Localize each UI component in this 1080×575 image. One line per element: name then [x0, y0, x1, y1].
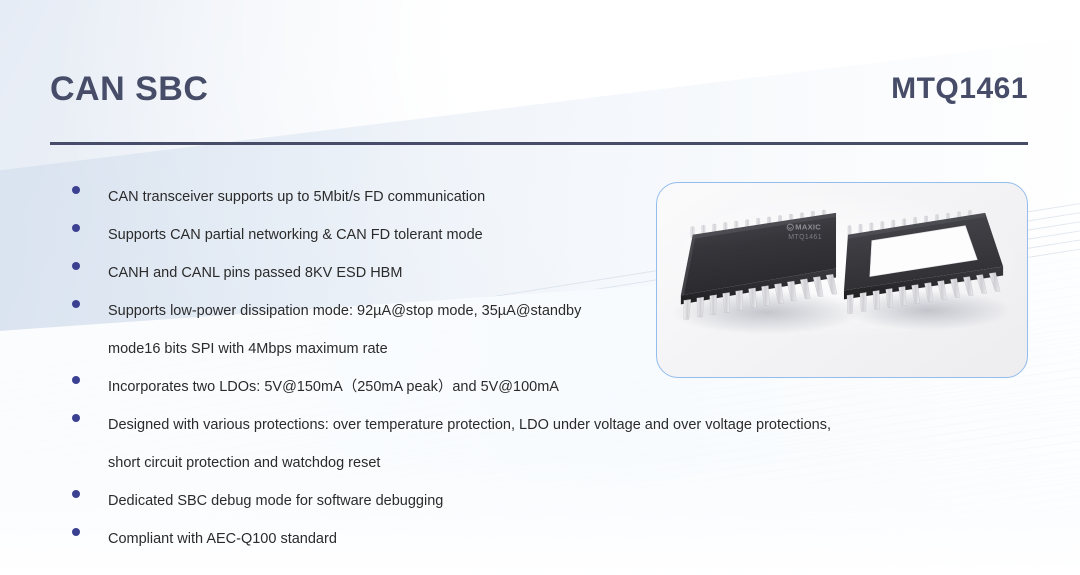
part-number-label: MTQ1461: [891, 74, 1028, 106]
bullet-point-icon: [72, 262, 80, 270]
feature-continuation-line: short circuit protection and watchdog re…: [50, 444, 950, 482]
feature-list-item: Designed with various protections: over …: [50, 406, 950, 444]
feature-text: Dedicated SBC debug mode for software de…: [108, 482, 950, 520]
feature-list-item: Dedicated SBC debug mode for software de…: [50, 482, 950, 520]
product-image-panel: MAXIC MTQ1461: [656, 182, 1028, 378]
chip-package-illustration: MAXIC MTQ1461: [657, 183, 1027, 378]
bullet-point-icon: [72, 186, 80, 194]
slide-root: CAN SBC MTQ1461 CAN transceiver supports…: [0, 0, 1080, 575]
right-chip-frame-body: [844, 213, 1003, 300]
feature-text: short circuit protection and watchdog re…: [108, 444, 950, 482]
svg-text:MAXIC: MAXIC: [795, 223, 821, 232]
feature-list-item: Compliant with AEC-Q100 standard: [50, 520, 950, 558]
feature-text: Compliant with AEC-Q100 standard: [108, 520, 950, 558]
bullet-point-icon: [72, 300, 80, 308]
page-title: CAN SBC: [50, 72, 208, 106]
bullet-point-icon: [72, 224, 80, 232]
bullet-point-icon: [72, 452, 80, 460]
bullet-point-icon: [72, 528, 80, 536]
bullet-point-icon: [72, 414, 80, 422]
svg-text:MTQ1461: MTQ1461: [788, 234, 822, 241]
bullet-point-icon: [72, 338, 80, 346]
bullet-point-icon: [72, 490, 80, 498]
feature-text: Designed with various protections: over …: [108, 406, 950, 444]
bullet-point-icon: [72, 376, 80, 384]
header-divider: [50, 142, 1028, 145]
slide-header: CAN SBC MTQ1461: [50, 72, 1028, 106]
